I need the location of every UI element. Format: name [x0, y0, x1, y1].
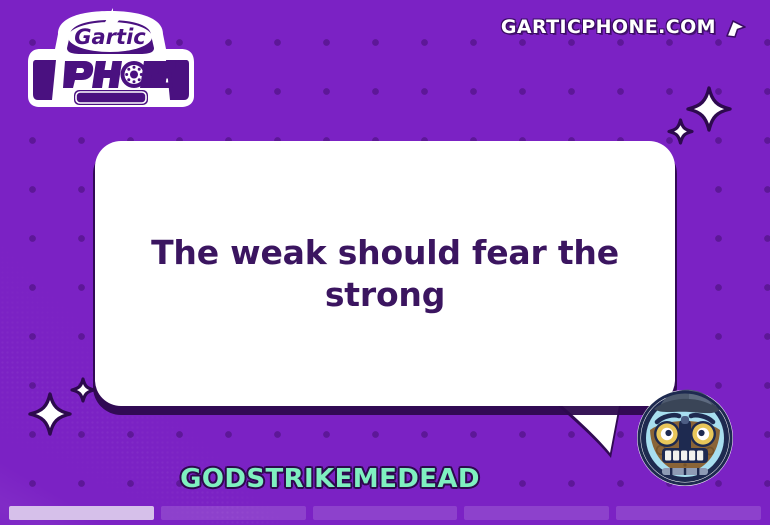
- sparkle-large-top-right: [686, 86, 732, 132]
- progress-segment[interactable]: [464, 506, 609, 520]
- progress-segment[interactable]: [161, 506, 306, 520]
- gartic-phone-logo: Gartic: [18, 4, 203, 112]
- sparkle-large-bottom-left: [28, 392, 72, 436]
- player-nickname: GODSTRIKEMEDEAD: [0, 464, 770, 494]
- prompt-text: The weak should fear the strong: [95, 141, 675, 406]
- progress-segment[interactable]: [9, 506, 154, 520]
- speech-bubble: The weak should fear the strong: [95, 141, 675, 406]
- progress-segment[interactable]: [313, 506, 458, 520]
- gartic-phone-watermark: GARTICPHONE.COM: [501, 14, 748, 40]
- progress-segment[interactable]: [616, 506, 761, 520]
- svg-text:Gartic: Gartic: [74, 25, 146, 49]
- album-progress-bar[interactable]: [0, 500, 770, 525]
- logo-icon: Gartic: [18, 4, 203, 112]
- speech-bubble-body: The weak should fear the strong: [95, 141, 675, 406]
- watermark-label: GARTICPHONE.COM: [501, 16, 716, 38]
- cursor-pointer-icon: [724, 16, 748, 40]
- gartic-phone-album-slide: Gartic GARTICPHONE.COM The weak should f…: [0, 0, 770, 525]
- sparkle-small-bottom-left: [70, 377, 96, 403]
